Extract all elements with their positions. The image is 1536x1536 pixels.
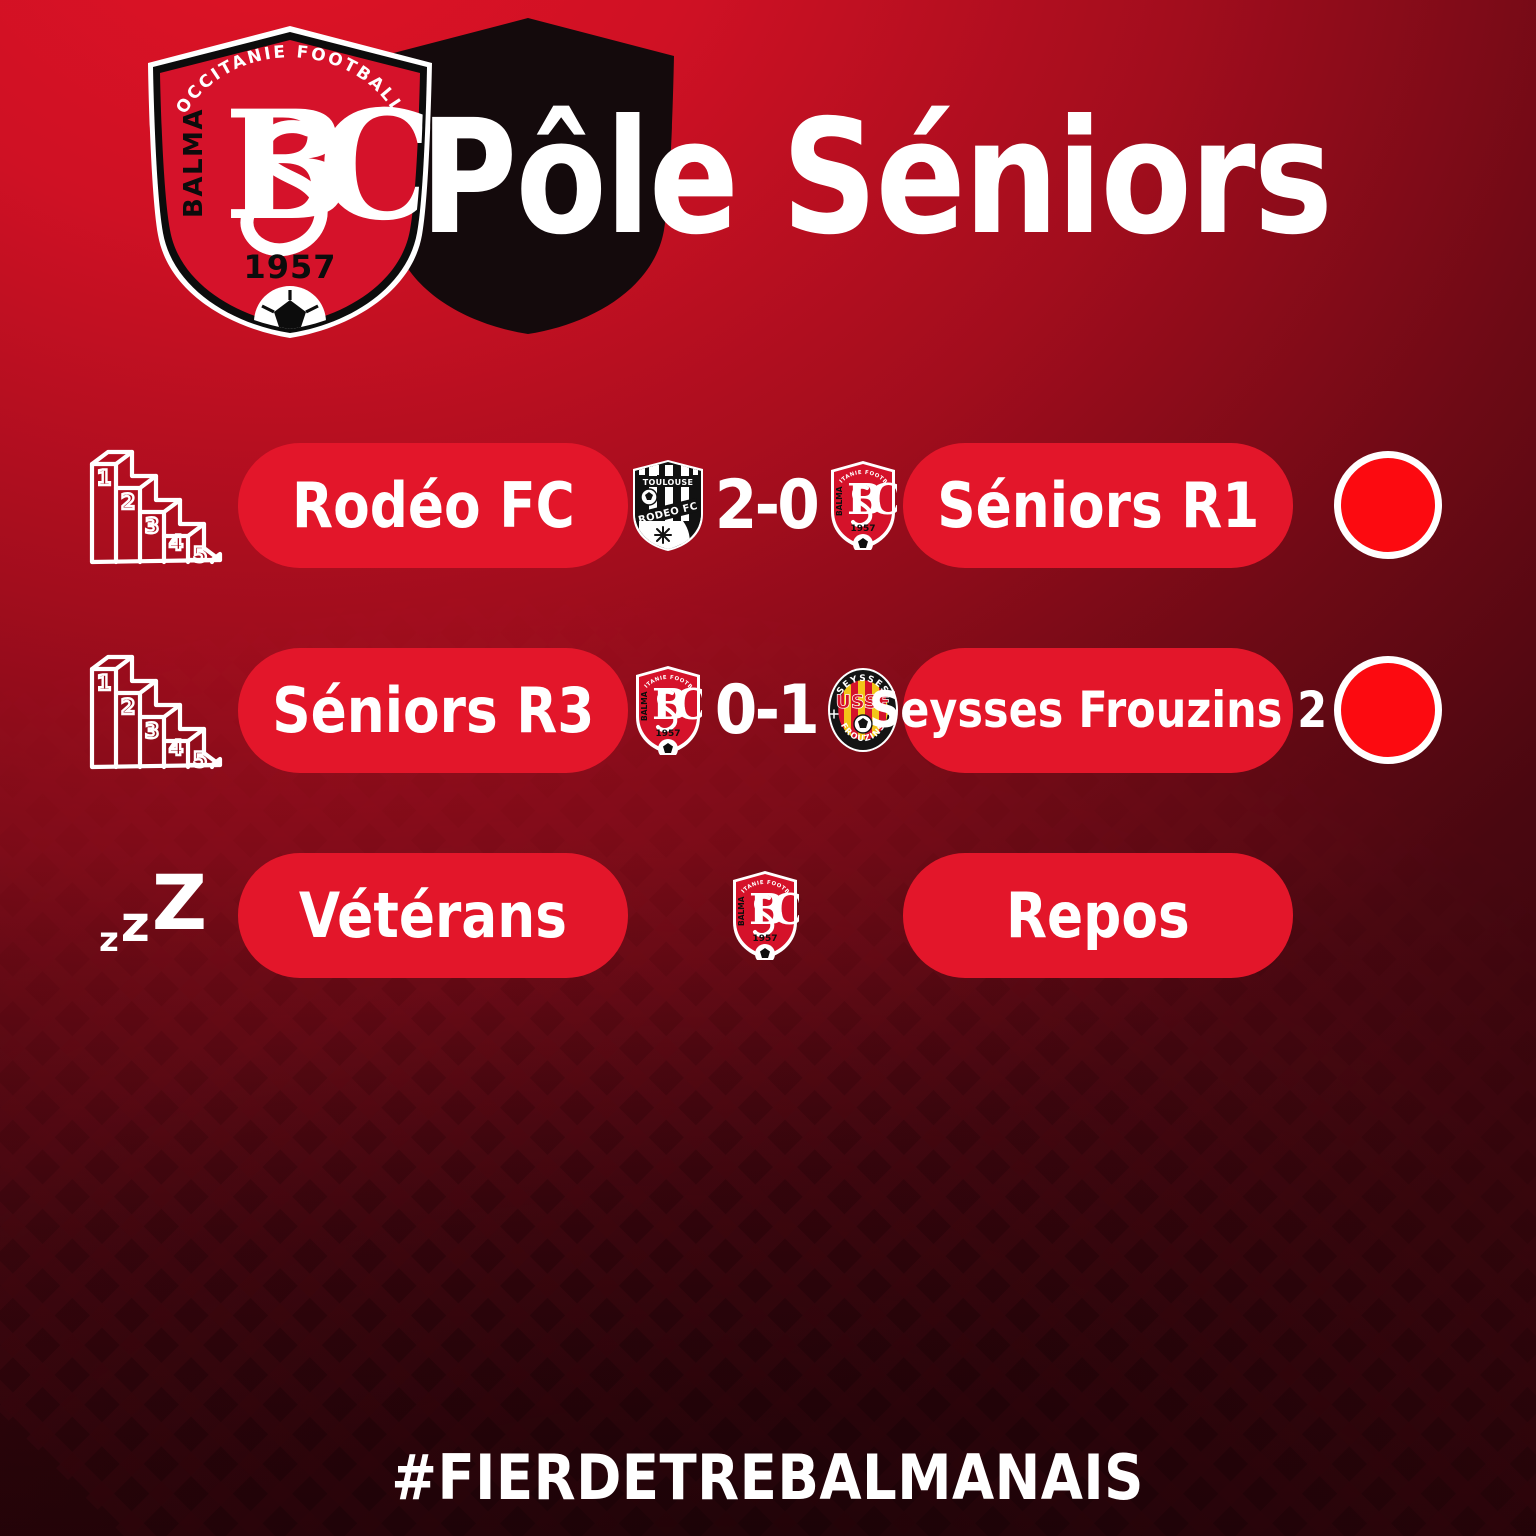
header: OCCITANIE FOOTBALL BALMA B C 1957 (0, 0, 1536, 400)
page-title: Pôle Séniors (420, 84, 1134, 272)
svg-text:1957: 1957 (851, 524, 876, 534)
score-block: TOULOUSE RODEO FC (628, 440, 903, 570)
result-row: z z Z Vétérans OCCITANIE FOOTBALL (0, 840, 1536, 990)
result-indicator-slot (1293, 840, 1483, 990)
result-indicator-defeat (1334, 451, 1442, 559)
svg-text:TOULOUSE: TOULOUSE (642, 478, 693, 487)
home-team-pill[interactable]: Rodéo FC (238, 443, 628, 568)
home-team-label: Vétérans (299, 879, 567, 952)
svg-text:2: 2 (121, 695, 136, 719)
home-team-pill[interactable]: Séniors R3 (238, 648, 628, 773)
svg-text:C: C (771, 885, 799, 934)
balma-sporting-club-badge: OCCITANIE FOOTBALL BALMA B C 1957 (824, 456, 902, 554)
svg-text:3: 3 (145, 514, 160, 538)
away-team-pill[interactable]: Séniors R1 (903, 443, 1293, 568)
away-team-pill[interactable]: Repos (903, 853, 1293, 978)
away-team-label: Seysses Frouzins 2 (869, 681, 1327, 739)
zzz-large: Z (152, 865, 207, 941)
poster-canvas: OCCITANIE FOOTBALL BALMA B C 1957 (0, 0, 1536, 1536)
page-title-wrapper: Pôle Séniors (420, 84, 1270, 284)
svg-text:5: 5 (193, 748, 208, 772)
home-team-label: Séniors R3 (272, 674, 594, 747)
hashtag-label: #FIERDETREBALMANAIS (392, 1441, 1145, 1514)
balma-sporting-club-crest: OCCITANIE FOOTBALL BALMA B C 1957 (140, 22, 440, 342)
result-indicator-defeat (1334, 656, 1442, 764)
home-team-pill[interactable]: Vétérans (238, 853, 628, 978)
away-team-pill[interactable]: Seysses Frouzins 2 (903, 648, 1293, 773)
balma-sporting-club-badge: OCCITANIE FOOTBALL BALMA B C 1957 (629, 661, 707, 759)
score-block: OCCITANIE FOOTBALL BALMA B C 1957 (628, 850, 903, 980)
score-block: OCCITANIE FOOTBALL BALMA B C 1957 0-1 (628, 645, 903, 775)
footer: #FIERDETREBALMANAIS (0, 1441, 1536, 1514)
logo-lockup: OCCITANIE FOOTBALL BALMA B C 1957 (140, 8, 1270, 348)
svg-text:2: 2 (121, 490, 136, 514)
stairs-ranking-icon: 1 2 3 4 5 (68, 635, 238, 785)
svg-text:BALMA: BALMA (737, 896, 746, 926)
stairs-ranking-icon: 1 2 3 4 5 (68, 430, 238, 580)
svg-text:C: C (869, 475, 897, 524)
svg-text:1: 1 (97, 466, 112, 490)
svg-text:C: C (674, 680, 702, 729)
svg-text:BALMA: BALMA (179, 108, 209, 218)
svg-text:BALMA: BALMA (835, 486, 844, 516)
sleep-zzz-icon: z z Z (68, 840, 238, 990)
svg-text:1957: 1957 (752, 934, 777, 944)
svg-text:1957: 1957 (243, 248, 336, 286)
balma-sporting-club-badge: OCCITANIE FOOTBALL BALMA B C 1957 (726, 866, 804, 964)
home-team-label: Rodéo FC (292, 469, 575, 542)
result-row: 1 2 3 4 5 Séniors R3 (0, 635, 1536, 785)
zzz-medium: z (121, 899, 150, 949)
svg-text:5: 5 (193, 543, 208, 567)
svg-text:4: 4 (169, 736, 184, 760)
away-team-label: Repos (1006, 879, 1190, 952)
svg-text:4: 4 (169, 531, 184, 555)
svg-text:3: 3 (145, 719, 160, 743)
svg-text:BALMA: BALMA (640, 691, 649, 721)
away-team-label: Séniors R1 (937, 469, 1259, 542)
match-score: 2-0 (714, 466, 816, 545)
results-list: 1 2 3 4 5 Rodéo FC (0, 430, 1536, 1045)
result-indicator-slot (1293, 430, 1483, 580)
toulouse-rodeo-fc-badge: TOULOUSE RODEO FC (629, 456, 707, 554)
zzz-small: z (99, 923, 119, 957)
svg-text:1: 1 (97, 671, 112, 695)
match-score: 0-1 (714, 671, 816, 750)
svg-text:1957: 1957 (655, 729, 680, 739)
result-row: 1 2 3 4 5 Rodéo FC (0, 430, 1536, 580)
